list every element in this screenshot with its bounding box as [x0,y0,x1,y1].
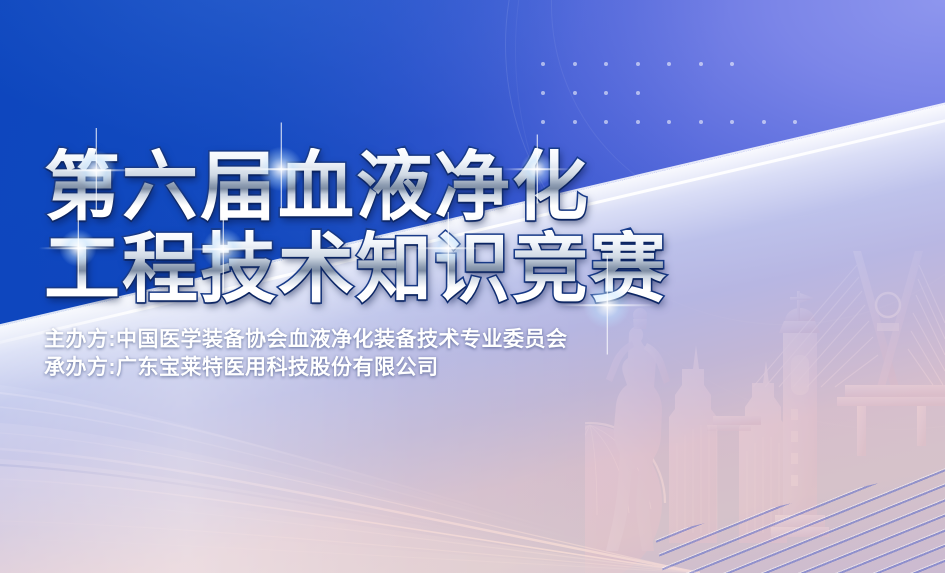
grid-dot [699,62,703,66]
grid-dot [730,120,734,124]
title-line-2: 工程技术知识竞赛 [44,230,684,310]
dot-grid-pattern [541,62,797,149]
grid-dot [699,120,703,124]
grid-dot [604,120,608,124]
grid-dot [793,120,797,124]
grid-dot [573,91,577,95]
title-line-1: 第六届血液净化 [44,148,684,228]
grid-dot [541,62,545,66]
grid-dot [541,120,545,124]
grid-dot [730,62,734,66]
grid-dot [636,62,640,66]
grid-dot [573,120,577,124]
grid-dot [667,62,671,66]
dot-grid-row [541,91,797,95]
grid-dot [604,62,608,66]
organizer-line: 主办方:中国医学装备协会血液净化装备技术专业委员会 [44,326,684,354]
grid-dot [636,91,640,95]
grid-dot [762,120,766,124]
grid-dot [604,91,608,95]
dot-grid-row [541,120,797,124]
poster-content: 第六届血液净化 第六届血液净化 工程技术知识竞赛 工程技术知识竞赛 主办方:中国… [44,148,684,382]
grid-dot [573,62,577,66]
grid-dot [541,91,545,95]
event-poster: 第六届血液净化 第六届血液净化 工程技术知识竞赛 工程技术知识竞赛 主办方:中国… [0,0,945,573]
dot-grid-row [541,62,797,66]
poster-title: 第六届血液净化 第六届血液净化 [44,148,684,228]
grid-dot [667,120,671,124]
poster-title-second-line: 工程技术知识竞赛 工程技术知识竞赛 [44,230,684,310]
poster-subtitle: 主办方:中国医学装备协会血液净化装备技术专业委员会 承办方:广东宝莱特医用科技股… [44,326,684,382]
grid-dot [636,120,640,124]
co-organizer-line: 承办方:广东宝莱特医用科技股份有限公司 [44,354,684,382]
